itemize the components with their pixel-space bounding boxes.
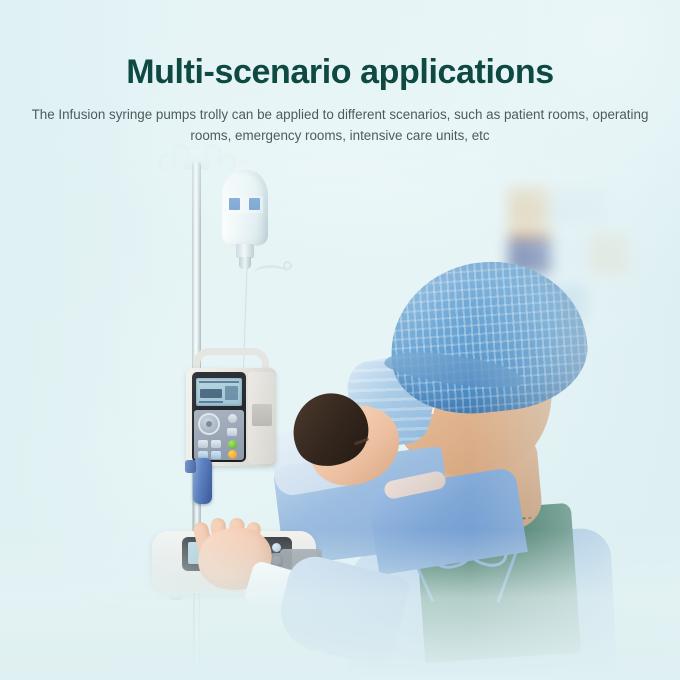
banner-header: Multi-scenario applications The Infusion… [0, 0, 680, 146]
stop-key-icon [228, 450, 237, 459]
infusion-pump [182, 348, 290, 476]
function-key-4 [211, 451, 221, 459]
infusion-pump-lcd-display [196, 378, 242, 406]
function-key-2 [211, 440, 221, 448]
operator-hand [186, 516, 336, 626]
navigation-pad-icon [198, 413, 220, 435]
menu-key-icon [227, 428, 237, 436]
page-subtitle: The Infusion syringe pumps trolly can be… [30, 105, 650, 146]
clock-key-icon [228, 414, 237, 423]
iv-bottle-neck [236, 244, 254, 258]
pole-clamp-ear [185, 460, 196, 473]
infusion-pump-keypad [194, 410, 244, 460]
page-title: Multi-scenario applications [0, 54, 680, 91]
roller-knob-icon [283, 261, 292, 270]
function-key-1 [198, 440, 208, 448]
multi-scenario-banner: Multi-scenario applications The Infusion… [0, 0, 680, 680]
iv-bottle [222, 170, 270, 280]
infusion-pump-door-grip [252, 404, 272, 426]
iv-bottle-label [227, 196, 263, 213]
start-key-icon [228, 440, 237, 449]
